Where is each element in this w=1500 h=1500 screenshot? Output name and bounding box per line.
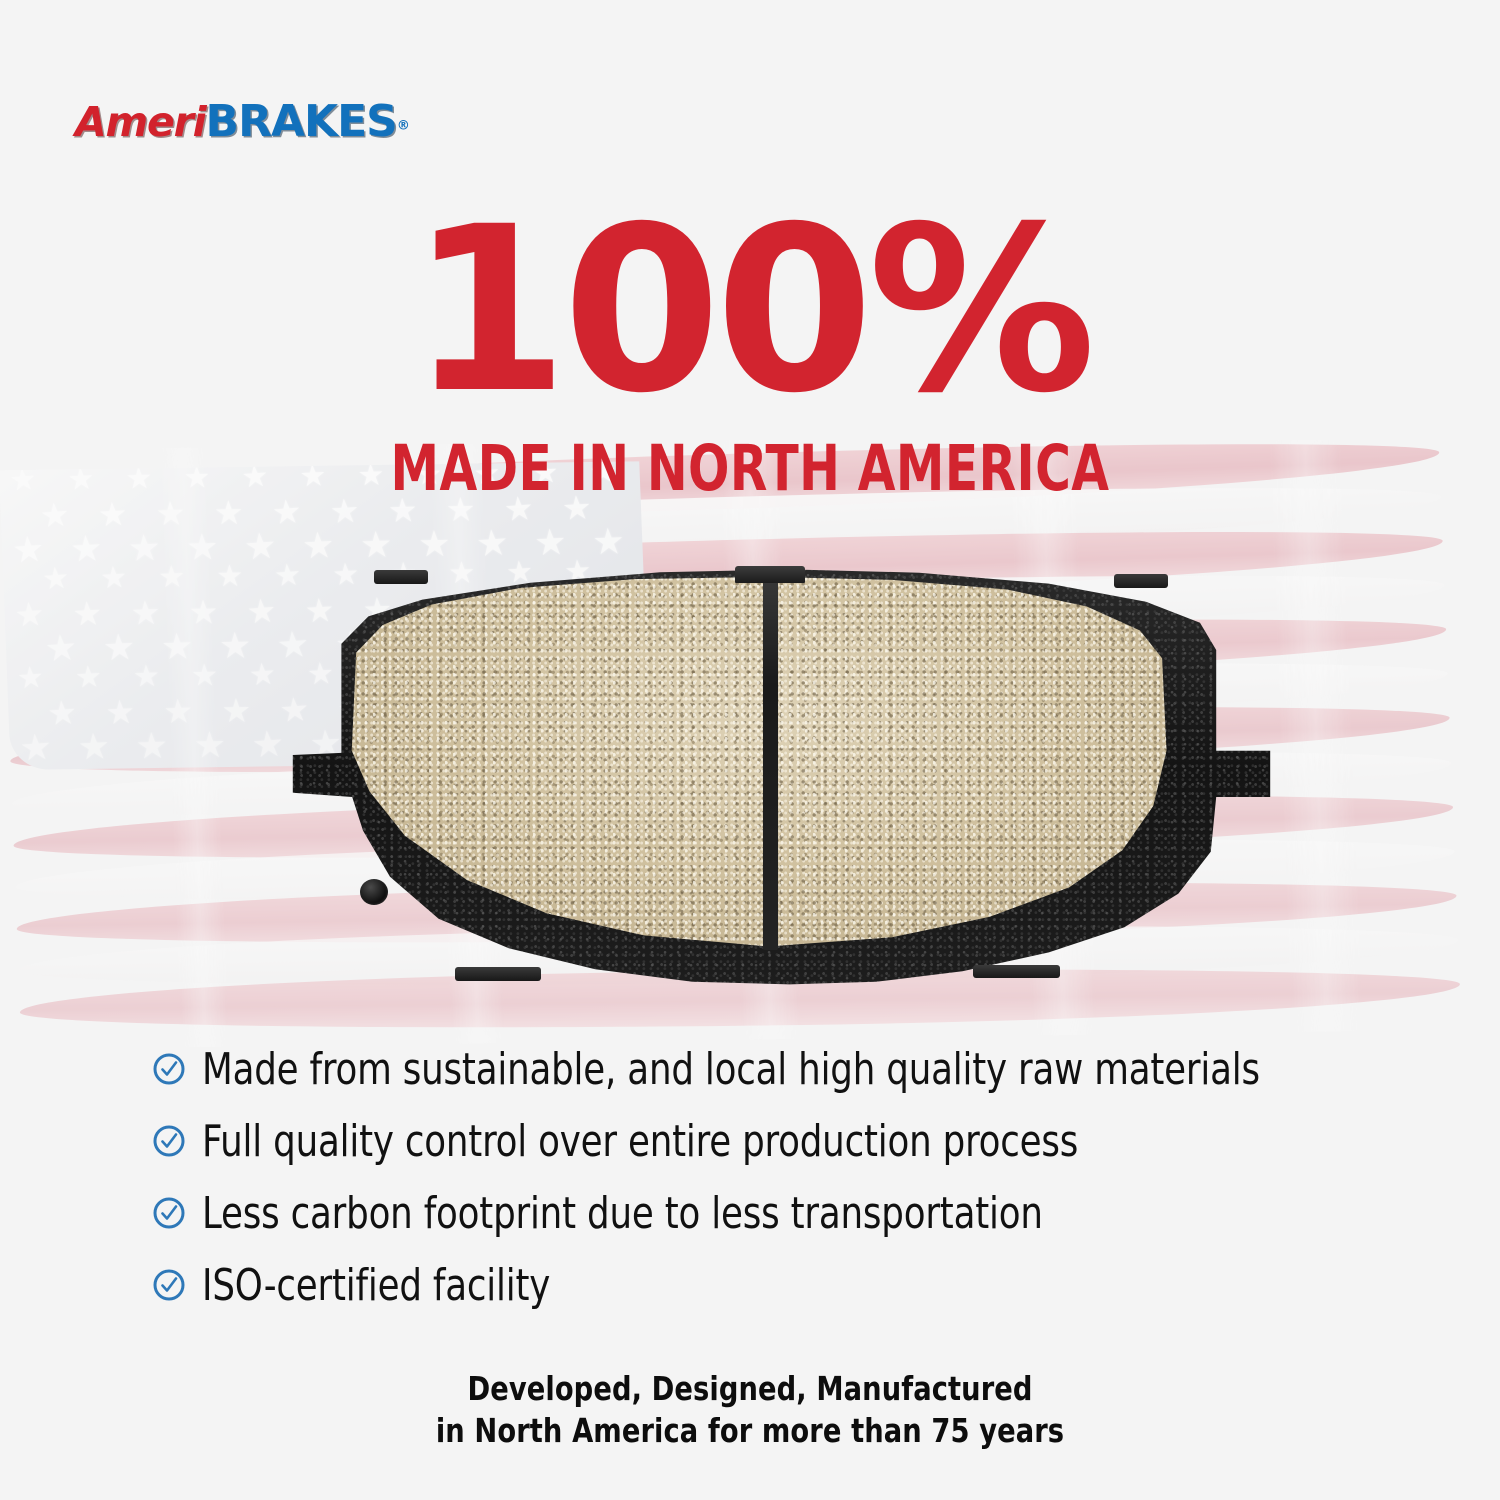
- headline-block: 100% MADE IN NORTH AMERICA: [0, 206, 1500, 505]
- flag-star-icon: ★: [41, 564, 71, 596]
- check-circle-icon: [152, 1124, 186, 1158]
- flag-star-icon: ★: [125, 464, 154, 495]
- flag-star-icon: ★: [71, 596, 103, 630]
- flag-star-icon: ★: [186, 529, 220, 565]
- flag-star-icon: ★: [561, 490, 593, 524]
- flag-star-icon: ★: [445, 493, 476, 526]
- flag-star-icon: ★: [213, 496, 244, 529]
- list-item: Full quality control over entire product…: [152, 1110, 1402, 1172]
- flag-star-icon: ★: [18, 729, 53, 767]
- flag-star-icon: ★: [533, 524, 568, 562]
- flag-star-icon: ★: [240, 462, 270, 494]
- flag-star-icon: ★: [188, 595, 219, 628]
- flag-star-icon: ★: [69, 530, 104, 568]
- check-circle-icon: [152, 1196, 186, 1230]
- registered-trademark-icon: ®: [397, 119, 410, 134]
- flag-star-icon: ★: [104, 695, 136, 729]
- flag-star-icon: ★: [472, 461, 502, 490]
- flag-star-icon: ★: [11, 531, 46, 569]
- flag-star-icon: ★: [43, 629, 78, 667]
- brake-pad-mounting-hole: [360, 879, 388, 905]
- flag-star-icon: ★: [158, 562, 187, 593]
- brand-logo[interactable]: AmeriBRAKES®: [75, 100, 410, 144]
- feature-label: Full quality control over entire product…: [202, 1116, 1078, 1167]
- flag-star-icon: ★: [16, 663, 46, 695]
- brake-pad-tab-top-right: [1114, 574, 1168, 588]
- flag-star-icon: ★: [299, 461, 328, 492]
- flag-star-icon: ★: [97, 497, 129, 531]
- brake-pad-slot-head: [735, 566, 805, 583]
- flag-fold-highlight: [158, 447, 229, 1047]
- flag-star-icon: ★: [387, 493, 418, 527]
- flag-star-icon: ★: [102, 629, 137, 667]
- list-item: ISO-certified facility: [152, 1254, 1402, 1316]
- brake-pad-tab-top-left: [374, 570, 428, 584]
- flag-star-icon: ★: [503, 491, 535, 526]
- flag-star-icon: ★: [191, 661, 219, 691]
- check-circle-icon: [152, 1052, 186, 1086]
- flag-star-icon: ★: [155, 496, 186, 530]
- brake-pad-image: [228, 566, 1308, 986]
- flag-star-icon: ★: [270, 494, 302, 529]
- flag-star-icon: ★: [415, 461, 443, 490]
- flag-star-icon: ★: [531, 461, 560, 489]
- headline-percent: 100%: [0, 206, 1500, 416]
- flag-star-icon: ★: [127, 530, 161, 567]
- flag-stripe: [1, 475, 1443, 575]
- brake-pad-tab-bottom-left: [455, 967, 541, 980]
- brake-pad-tab-bottom-right: [973, 965, 1059, 978]
- flag-star-icon: ★: [46, 695, 78, 730]
- logo-text-ameri: Ameri: [75, 98, 206, 146]
- flag-star-icon: ★: [99, 563, 128, 594]
- list-item: Made from sustainable, and local high qu…: [152, 1038, 1402, 1100]
- headline-subtitle: MADE IN NORTH AMERICA: [105, 432, 1395, 505]
- flag-stripe: [0, 440, 1441, 533]
- flag-star-icon: ★: [329, 494, 361, 528]
- flag-star-icon: ★: [589, 461, 618, 488]
- flag-star-icon: ★: [38, 498, 70, 533]
- feature-label: ISO-certified facility: [202, 1260, 550, 1311]
- footer-line-1: Developed, Designed, Manufactured: [60, 1368, 1440, 1410]
- feature-label: Less carbon footprint due to less transp…: [202, 1188, 1043, 1239]
- flag-star-icon: ★: [163, 694, 194, 728]
- flag-star-icon: ★: [8, 465, 38, 497]
- flag-star-icon: ★: [130, 596, 161, 630]
- flag-star-icon: ★: [475, 524, 510, 562]
- flag-star-icon: ★: [135, 728, 169, 765]
- flag-star-icon: ★: [77, 728, 112, 766]
- feature-list: Made from sustainable, and local high qu…: [152, 1038, 1402, 1326]
- flag-star-icon: ★: [13, 597, 45, 632]
- footer-block: Developed, Designed, Manufactured in Nor…: [0, 1368, 1500, 1452]
- flag-star-icon: ★: [132, 662, 161, 693]
- flag-star-icon: ★: [193, 727, 227, 763]
- product-promo-graphic: ★★★★★★★★★★★★★★★★★★★★★★★★★★★★★★★★★★★★★★★★…: [0, 0, 1500, 1500]
- footer-line-2: in North America for more than 75 years: [60, 1410, 1440, 1452]
- flag-star-icon: ★: [357, 461, 386, 491]
- flag-star-icon: ★: [160, 628, 194, 665]
- flag-star-icon: ★: [183, 463, 211, 493]
- flag-star-icon: ★: [66, 464, 95, 495]
- brake-pad-center-slot: [763, 572, 779, 950]
- flag-star-icon: ★: [74, 662, 103, 693]
- flag-star-icon: ★: [359, 526, 393, 563]
- feature-label: Made from sustainable, and local high qu…: [202, 1044, 1260, 1095]
- list-item: Less carbon footprint due to less transp…: [152, 1182, 1402, 1244]
- flag-star-icon: ★: [301, 527, 336, 565]
- flag-star-icon: ★: [243, 528, 278, 566]
- flag-star-icon: ★: [418, 526, 452, 562]
- flag-star-icon: ★: [591, 523, 625, 560]
- check-circle-icon: [152, 1268, 186, 1302]
- logo-text-brakes: BRAKES: [206, 96, 397, 147]
